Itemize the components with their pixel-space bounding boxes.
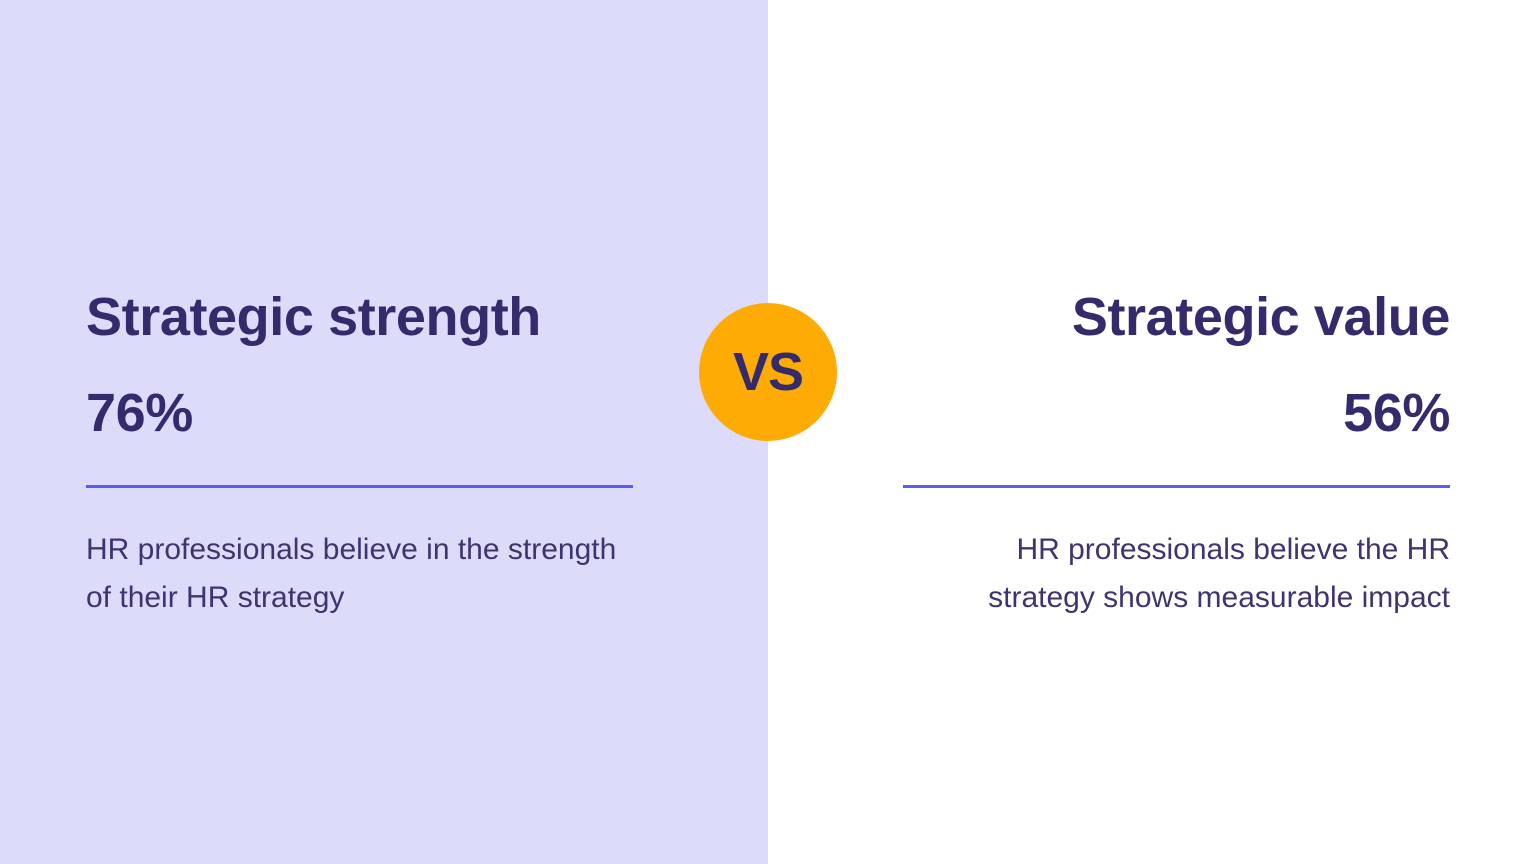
- left-stat-heading: Strategic strength: [86, 288, 633, 346]
- versus-badge: VS: [699, 303, 837, 441]
- right-divider-rule: [903, 485, 1450, 488]
- comparison-graphic: Strategic strength 76% HR professionals …: [0, 0, 1536, 864]
- left-stat-caption: HR professionals believe in the strength…: [86, 526, 633, 622]
- versus-badge-label: VS: [733, 345, 803, 399]
- left-stat-value: 76%: [86, 384, 633, 442]
- right-panel-content: Strategic value 56% HR professionals bel…: [903, 288, 1450, 622]
- left-divider-rule: [86, 485, 633, 488]
- left-panel-content: Strategic strength 76% HR professionals …: [86, 288, 633, 622]
- right-stat-value: 56%: [903, 384, 1450, 442]
- comparison-panel-left: Strategic strength 76% HR professionals …: [0, 0, 768, 864]
- right-stat-caption: HR professionals believe the HR strategy…: [903, 526, 1450, 622]
- comparison-panel-right: Strategic value 56% HR professionals bel…: [768, 0, 1536, 864]
- right-stat-heading: Strategic value: [903, 288, 1450, 346]
